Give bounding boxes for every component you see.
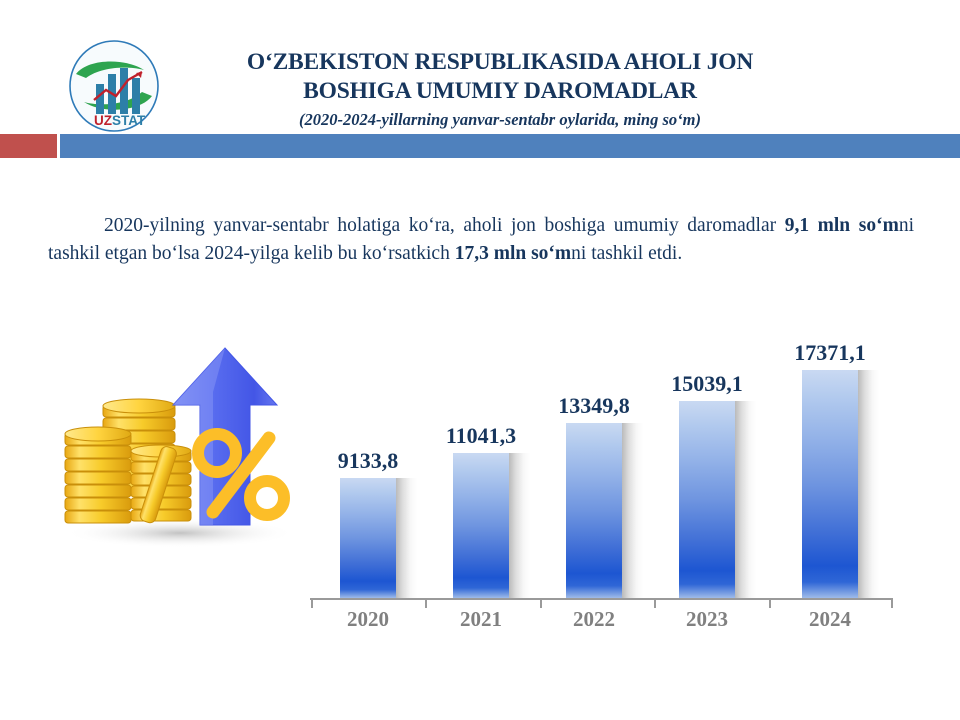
bar-2020[interactable] xyxy=(340,478,396,598)
bar-2022[interactable] xyxy=(566,423,622,598)
category-label-2022: 2022 xyxy=(534,607,654,632)
coins-and-growth-arrow-illustration xyxy=(45,330,325,560)
category-label-2020: 2020 xyxy=(308,607,428,632)
logo-text-uz: UZ xyxy=(94,113,112,128)
divider-band-blue xyxy=(60,134,960,158)
x-axis-tick-end xyxy=(891,599,893,608)
title-line-1: O‘ZBEKISTON RESPUBLIKASIDA AHOLI JON xyxy=(180,48,820,77)
paragraph-bold-1: 9,1 mln so‘m xyxy=(785,215,899,236)
bar-value-2023: 15039,1 xyxy=(647,371,767,397)
paragraph-part-1: 2020-yilning yanvar-sentabr holatiga ko‘… xyxy=(104,215,785,236)
bar-value-2022: 13349,8 xyxy=(534,393,654,419)
category-label-2024: 2024 xyxy=(770,607,890,632)
bar-2024[interactable] xyxy=(802,370,858,598)
bar-value-2020: 9133,8 xyxy=(308,448,428,474)
x-axis-line xyxy=(310,598,893,600)
logo-text-stat: STAT xyxy=(112,113,146,128)
title-line-2: BOSHIGA UMUMIY DAROMADLAR xyxy=(180,77,820,106)
bar-value-2021: 11041,3 xyxy=(421,423,541,449)
subtitle: (2020-2024-yillarning yanvar-sentabr oyl… xyxy=(180,108,820,132)
header: UZ STAT O‘ZBEKISTON RESPUBLIKASIDA AHOLI… xyxy=(0,0,960,170)
bar-shadow-2020 xyxy=(395,478,417,598)
bar-shadow-2023 xyxy=(734,401,756,598)
paragraph-part-3: ni tashkil etdi. xyxy=(571,243,682,264)
bar-shadow-2022 xyxy=(621,423,643,598)
paragraph-bold-2: 17,3 mln so‘m xyxy=(455,243,571,264)
divider-band-red xyxy=(0,134,57,158)
bar-value-2024: 17371,1 xyxy=(770,340,890,366)
uzstat-logo: UZ STAT xyxy=(68,40,160,132)
bar-shadow-2021 xyxy=(508,453,530,598)
category-label-2023: 2023 xyxy=(647,607,767,632)
bar-2023[interactable] xyxy=(679,401,735,598)
summary-paragraph: 2020-yilning yanvar-sentabr holatiga ko‘… xyxy=(48,212,914,268)
bar-chart: 9133,8 11041,3 13349,8 15039,1 17371,1 2… xyxy=(300,330,920,650)
bar-shadow-2024 xyxy=(857,370,879,598)
bar-2021[interactable] xyxy=(453,453,509,598)
coin-stack-middle xyxy=(65,427,131,523)
page-title: O‘ZBEKISTON RESPUBLIKASIDA AHOLI JON BOS… xyxy=(180,48,820,132)
category-label-2021: 2021 xyxy=(421,607,541,632)
